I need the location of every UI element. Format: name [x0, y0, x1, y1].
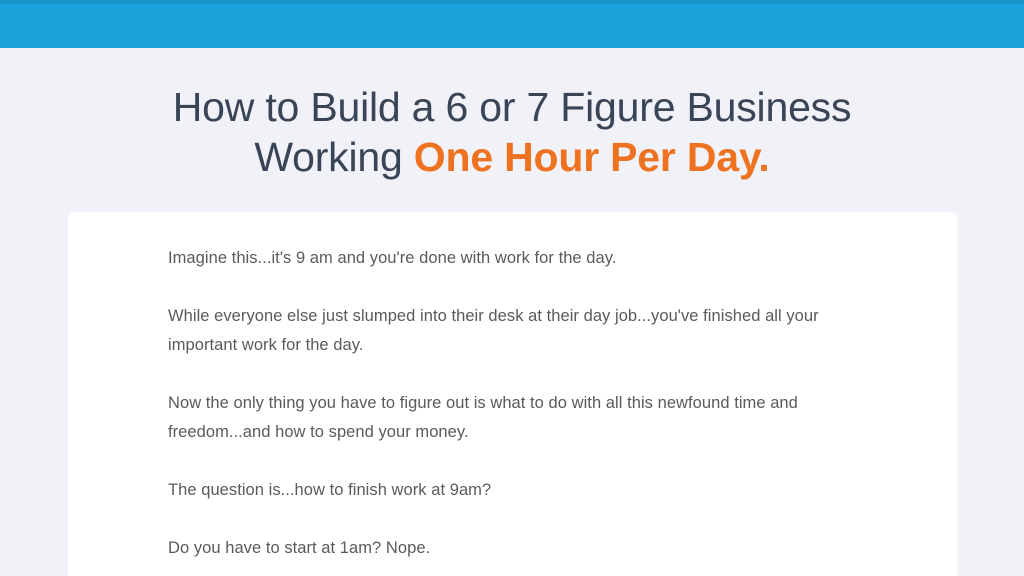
page-headline: How to Build a 6 or 7 Figure Business Wo…: [0, 82, 1024, 182]
body-paragraph: While everyone else just slumped into th…: [168, 302, 857, 360]
content-card-body: Imagine this...it's 9 am and you're done…: [68, 212, 957, 563]
body-paragraph: Do you have to start at 1am? Nope.: [168, 534, 857, 563]
content-card: Imagine this...it's 9 am and you're done…: [68, 212, 957, 576]
top-navigation-bar: [0, 0, 1024, 48]
headline-line-2-plain: Working: [254, 134, 413, 180]
headline-line-1: How to Build a 6 or 7 Figure Business: [40, 82, 984, 132]
body-paragraph: Now the only thing you have to figure ou…: [168, 389, 857, 447]
body-paragraph: The question is...how to finish work at …: [168, 476, 857, 505]
top-navigation-bar-inner: [0, 4, 1024, 48]
body-paragraph: Imagine this...it's 9 am and you're done…: [168, 244, 857, 273]
landing-page: How to Build a 6 or 7 Figure Business Wo…: [0, 0, 1024, 576]
headline-accent: One Hour Per Day.: [414, 134, 770, 180]
headline-line-2: Working One Hour Per Day.: [40, 132, 984, 182]
headline-text: How to Build a 6 or 7 Figure Business Wo…: [0, 82, 1024, 182]
